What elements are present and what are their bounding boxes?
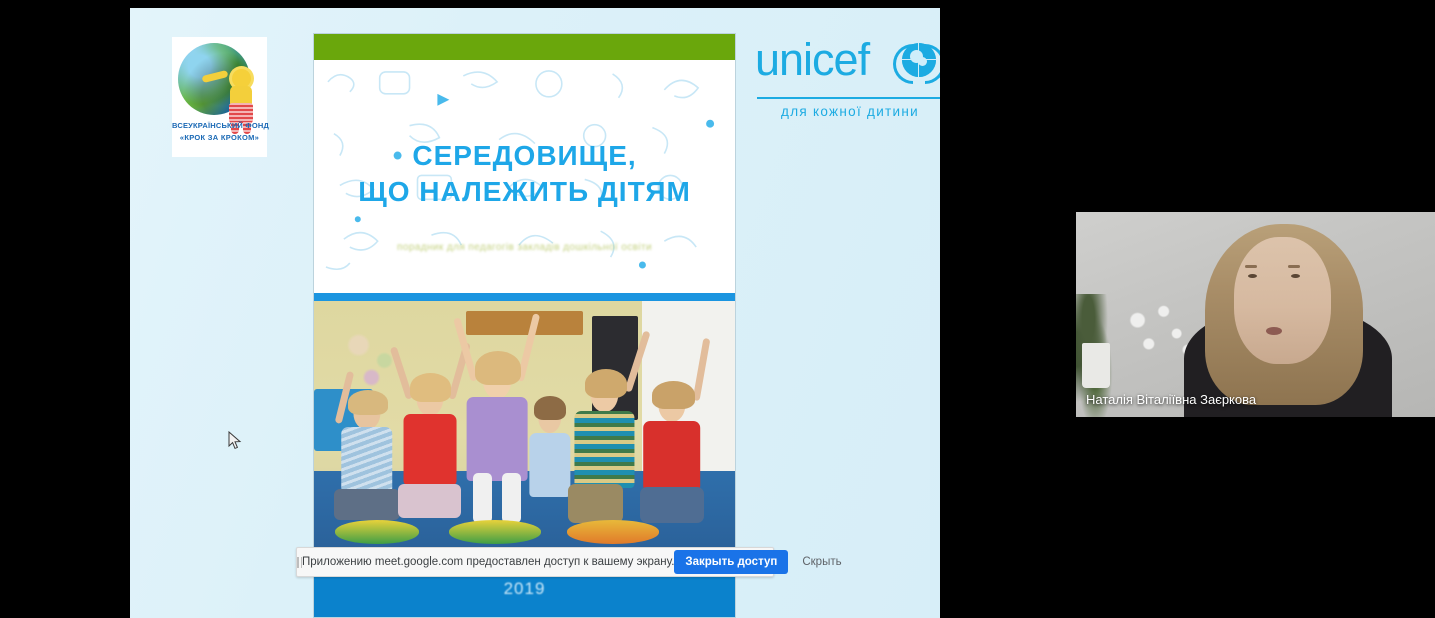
child-figure [394, 353, 466, 523]
unicef-emblem-icon [893, 37, 940, 89]
cushion [567, 520, 660, 543]
child-figure [567, 347, 643, 522]
org-logo-line1: ВСЕУКРАЇНСЬКИЙ ФОНД [172, 121, 267, 130]
mouse-cursor [228, 431, 242, 451]
slide-blue-separator [314, 293, 735, 301]
unicef-divider [757, 97, 940, 99]
slide-subtitle: порадник для педагогів закладів дошкільн… [314, 242, 735, 253]
screen-share-notification-bar: Приложению meet.google.com предоставлен … [296, 547, 774, 577]
unicef-logo: unicef для кожної дитини [755, 31, 940, 131]
krok-za-krokom-logo: ВСЕУКРАЇНСЬКИЙ ФОНД «КРОК ЗА КРОКОМ» [172, 37, 267, 157]
cushion [335, 520, 419, 543]
presentation-slide: СЕРЕДОВИЩЕ, ЩО НАЛЕЖИТЬ ДІТЯМ порадник д… [313, 33, 736, 618]
cushion [449, 520, 542, 543]
hide-notification-button[interactable]: Скрыть [788, 556, 853, 568]
slide-year: 2019 [314, 579, 735, 599]
slide-title: СЕРЕДОВИЩЕ, ЩО НАЛЕЖИТЬ ДІТЯМ [314, 138, 735, 210]
participant-name-label: Наталія Віталіївна Заєркова [1086, 392, 1256, 407]
stop-sharing-button[interactable]: Закрыть доступ [674, 550, 788, 574]
child-figure [331, 368, 403, 523]
child-figure [634, 358, 710, 523]
children-photo [314, 301, 735, 559]
slide-doodle-header: СЕРЕДОВИЩЕ, ЩО НАЛЕЖИТЬ ДІТЯМ порадник д… [314, 60, 735, 293]
unicef-tagline: для кожної дитини [755, 104, 940, 119]
slide-top-green-bar [314, 34, 735, 60]
participant-face [1234, 237, 1331, 364]
org-logo-line2: «КРОК ЗА КРОКОМ» [172, 133, 267, 142]
meet-screen-share-view: ВСЕУКРАЇНСЬКИЙ ФОНД «КРОК ЗА КРОКОМ» uni… [0, 0, 1435, 618]
slide-title-line1: СЕРЕДОВИЩЕ, [314, 138, 735, 174]
notification-message: Приложению meet.google.com предоставлен … [302, 556, 674, 568]
plant-pot [1082, 343, 1110, 388]
shared-screen-area: ВСЕУКРАЇНСЬКИЙ ФОНД «КРОК ЗА КРОКОМ» uni… [130, 8, 940, 618]
participant-video-tile[interactable]: Наталія Віталіївна Заєркова [1076, 212, 1435, 417]
slide-title-line2: ЩО НАЛЕЖИТЬ ДІТЯМ [314, 174, 735, 210]
